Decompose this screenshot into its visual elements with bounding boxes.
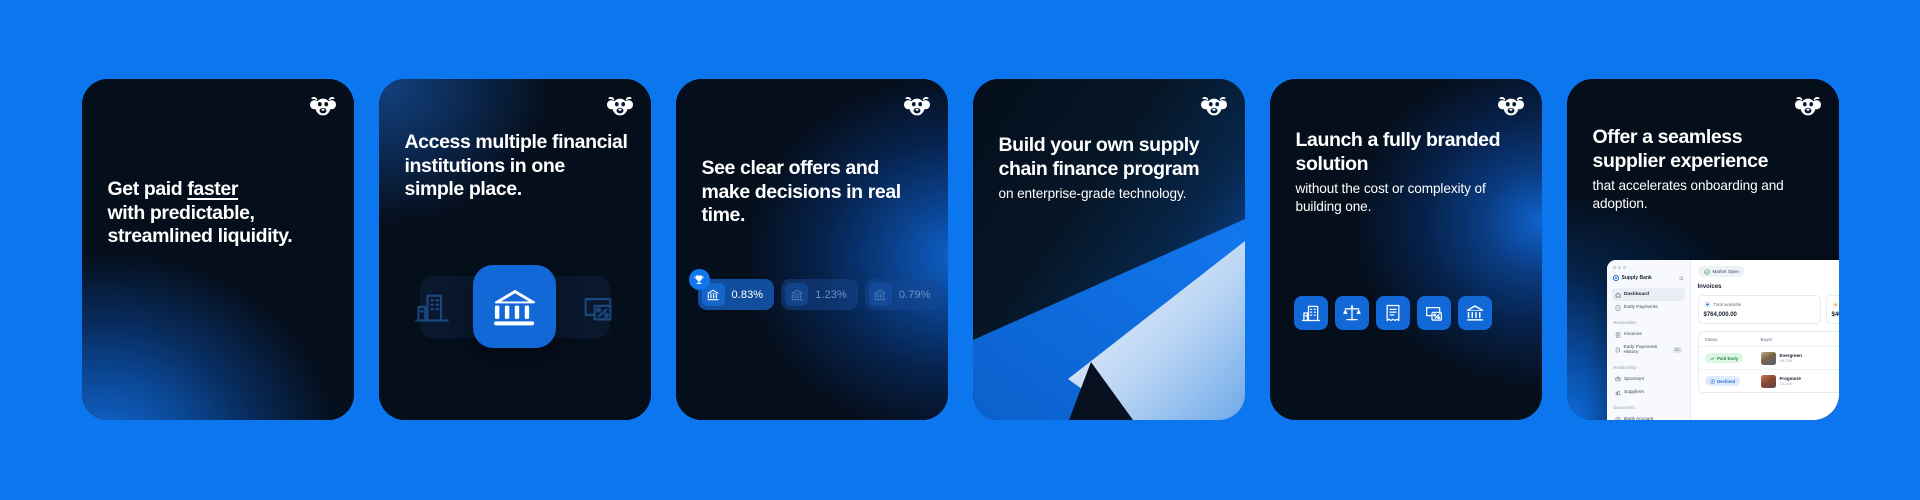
headline-emphasis: faster — [187, 178, 238, 200]
bank-account-icon — [1615, 417, 1621, 420]
card-supplier-experience[interactable]: Offer a seamless supplier experience tha… — [1567, 79, 1839, 420]
table-row[interactable]: Paid Early Evergreen 45-765 — [1699, 347, 1839, 370]
card-text-block: Get paid fasterwith predictable, streaml… — [108, 178, 332, 249]
card-headline: Access multiple financial institutions i… — [405, 131, 629, 202]
card-headline: Build your own supply chain finance prog… — [999, 134, 1223, 181]
mini-dashboard-preview[interactable]: Supply Bank Dashboard Early Payments Rec… — [1607, 260, 1839, 420]
bank-icon — [492, 286, 538, 328]
total-icon — [1832, 301, 1839, 308]
office-building-icon — [414, 289, 450, 325]
nav-label: Suppliers — [1624, 390, 1644, 395]
percentage-card-icon — [580, 289, 616, 325]
card-access-multiple[interactable]: Access multiple financial institutions i… — [379, 79, 651, 420]
mini-dashboard-sidebar: Supply Bank Dashboard Early Payments Rec… — [1607, 260, 1691, 420]
promo-card-strip: Get paid fasterwith predictable, streaml… — [0, 0, 1920, 500]
nav-section-title: Documents — [1614, 405, 1685, 410]
rate-chip-value: 0.79% — [899, 289, 931, 301]
nav-section-title: Receivables — [1614, 320, 1685, 325]
card-headline: Get paid fasterwith predictable, streaml… — [108, 178, 332, 249]
window-controls — [1612, 266, 1685, 269]
bank-icon[interactable] — [1458, 296, 1492, 330]
bank-icon-tile — [473, 265, 556, 348]
card-build-your-own[interactable]: Build your own supply chain finance prog… — [973, 79, 1245, 420]
nav-item-suppliers[interactable]: Suppliers — [1612, 386, 1685, 399]
stat-card: Total available $764,000.00 — [1698, 295, 1821, 324]
status-label: Paid Early — [1717, 356, 1738, 361]
buyer-thumbnail — [1761, 352, 1776, 365]
total-available-icon — [1704, 301, 1711, 308]
card-launch-branded[interactable]: Launch a fully branded solution without … — [1270, 79, 1542, 420]
rate-chip-value: 0.83% — [732, 289, 764, 301]
nav-badge: 22 — [1673, 347, 1682, 353]
card-get-paid-faster[interactable]: Get paid fasterwith predictable, streaml… — [82, 79, 354, 420]
invoice-table: Status Buyer Paid Early — [1698, 331, 1839, 393]
table-row[interactable]: Declined Frogmore 22-118 — [1699, 370, 1839, 392]
buyer-sub: 22-118 — [1780, 381, 1792, 386]
cards-row: Get paid fasterwith predictable, streaml… — [0, 0, 1920, 500]
card-background — [676, 79, 948, 420]
rate-chip-value: 1.23% — [815, 289, 847, 301]
clock-icon — [1710, 379, 1715, 384]
card-headline: Offer a seamless supplier experience — [1593, 126, 1817, 173]
trophy-icon — [689, 269, 710, 290]
koala-logo-icon — [1794, 94, 1822, 120]
buyer-sub: 45-765 — [1780, 358, 1792, 363]
column-header-buyer: Buyer — [1761, 337, 1839, 342]
buyer-cell: Frogmore 22-118 — [1761, 375, 1839, 388]
card-text-block: See clear offers and make decisions in r… — [702, 157, 926, 228]
nav-item-early-payments-history[interactable]: Early Payments History 22 — [1612, 342, 1685, 359]
nav-section-title: Relationship — [1614, 365, 1685, 370]
status-badge-label: Market Open — [1713, 269, 1740, 274]
koala-logo-icon — [903, 94, 931, 120]
card-background — [82, 79, 354, 420]
percentage-card-icon[interactable] — [1417, 296, 1451, 330]
invoice-icon — [1615, 332, 1621, 338]
supplier-icon — [1615, 390, 1621, 396]
card-text-block: Build your own supply chain finance prog… — [999, 134, 1223, 203]
card-headline: See clear offers and make decisions in r… — [702, 157, 926, 228]
stat-card: Total $40 — [1826, 295, 1839, 324]
mini-dashboard-title: Invoices — [1698, 284, 1839, 290]
stat-card-list: Total available $764,000.00 Total $40 — [1698, 295, 1839, 324]
bank-icon — [869, 283, 892, 306]
nav-label: Dashboard — [1624, 292, 1649, 297]
nav-item-dashboard[interactable]: Dashboard — [1612, 288, 1685, 301]
stat-label: Total available — [1714, 302, 1742, 307]
table-header-row: Status Buyer — [1699, 332, 1839, 347]
buyer-thumbnail — [1761, 375, 1776, 388]
card-text-block: Launch a fully branded solution without … — [1296, 129, 1520, 216]
nav-label: Invoices — [1624, 332, 1642, 337]
office-building-icon[interactable] — [1294, 296, 1328, 330]
status-badge-declined: Declined — [1705, 376, 1741, 386]
brand-switcher[interactable]: Supply Bank — [1612, 275, 1685, 281]
card-headline: Launch a fully branded solution — [1296, 129, 1520, 176]
status-badge-paid-early: Paid Early — [1705, 353, 1744, 363]
rate-chip[interactable]: 1.23% — [781, 279, 858, 310]
brand-name: Supply Bank — [1622, 275, 1664, 281]
headline-rest: with predictable, streamlined liquidity. — [108, 202, 293, 248]
nav-label: Bank Account — [1624, 417, 1653, 420]
card-subline: on enterprise-grade technology. — [999, 185, 1223, 203]
supply-bank-logo-icon — [1613, 275, 1619, 281]
rate-chip[interactable]: 0.79% — [865, 279, 942, 310]
institution-icon-cluster — [379, 254, 651, 359]
koala-logo-icon — [309, 94, 337, 120]
nav-item-bank-account[interactable]: Bank Account — [1612, 413, 1685, 420]
koala-logo-icon — [606, 94, 634, 120]
card-subline: that accelerates onboarding and adoption… — [1593, 177, 1817, 213]
mini-dashboard-main: Market Open Invoices Total available $76… — [1691, 260, 1839, 420]
bolt-icon — [1615, 305, 1621, 311]
status-cell: Paid Early — [1705, 353, 1755, 363]
home-icon — [1615, 292, 1621, 298]
nav-label: Early Payments History — [1624, 345, 1670, 355]
card-subline: without the cost or complexity of buildi… — [1296, 180, 1520, 216]
check-icon — [1710, 356, 1715, 361]
rate-chip-list: 0.83% — [698, 279, 942, 310]
nav-label: Early Payments — [1624, 305, 1658, 310]
stat-value: $40 — [1832, 312, 1839, 318]
history-icon — [1615, 347, 1621, 353]
bank-icon — [785, 283, 808, 306]
card-background — [973, 79, 1245, 420]
nav-label: Sponsors — [1624, 377, 1644, 382]
card-text-block: Access multiple financial institutions i… — [405, 131, 629, 202]
sponsor-icon — [1615, 376, 1621, 382]
stat-value: $764,000.00 — [1704, 312, 1815, 318]
buyer-cell: Evergreen 45-765 — [1761, 352, 1839, 365]
search-icon — [1679, 276, 1684, 281]
check-circle-icon — [1704, 269, 1710, 275]
nav-item-sponsors[interactable]: Sponsors — [1612, 373, 1685, 386]
chevron-down-icon — [1667, 276, 1672, 281]
card-text-block: Offer a seamless supplier experience tha… — [1593, 126, 1817, 213]
koala-logo-icon — [1200, 94, 1228, 120]
rate-chip-wrapper: 0.83% — [698, 279, 775, 310]
receipt-document-icon[interactable] — [1376, 296, 1410, 330]
nav-item-invoices[interactable]: Invoices — [1612, 328, 1685, 341]
headline-lead: Get paid — [108, 178, 188, 200]
column-header-status: Status — [1705, 337, 1755, 342]
nav-item-early-payments[interactable]: Early Payments — [1612, 301, 1685, 314]
card-see-clear-offers[interactable]: See clear offers and make decisions in r… — [676, 79, 948, 420]
status-cell: Declined — [1705, 376, 1755, 386]
capability-icon-row — [1294, 296, 1492, 330]
status-label: Declined — [1717, 379, 1735, 384]
koala-logo-icon — [1497, 94, 1525, 120]
scales-balance-icon[interactable] — [1335, 296, 1369, 330]
status-badge: Market Open — [1698, 266, 1746, 277]
